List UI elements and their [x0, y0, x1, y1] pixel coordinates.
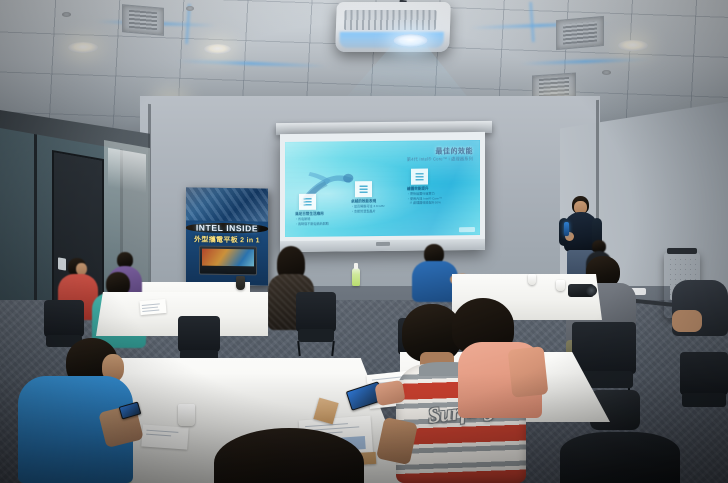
- partition-mullion: [34, 134, 37, 325]
- chair-back: [572, 322, 636, 374]
- camera-lens-icon: [586, 285, 597, 296]
- chair-right-2[interactable]: [680, 352, 728, 422]
- chair-seat: [298, 329, 335, 342]
- chair-center[interactable]: [296, 292, 336, 356]
- chair-back: [680, 352, 728, 395]
- banner-subheadline: 外型攜電平板 2 in 1: [186, 234, 268, 245]
- arm: [672, 310, 702, 332]
- conference-room-photo: 最佳的效能 第4代 Intel® Core™ i 處理器系列 滿足日常生活應用 …: [0, 0, 728, 483]
- projector: [335, 2, 451, 52]
- attendee-dark-foreground: [214, 428, 364, 483]
- slide-projection-haze: [285, 140, 480, 237]
- paper-cup: [236, 276, 245, 290]
- arm: [508, 346, 549, 398]
- paper-cup: [528, 274, 536, 285]
- attendee-blue-back: [412, 244, 458, 302]
- banner-device-image: [199, 246, 257, 276]
- projector-vent-grill: [344, 10, 437, 30]
- head: [214, 428, 364, 483]
- handout-paper: [141, 424, 188, 449]
- chair-leg: [331, 341, 335, 356]
- banner-photo: [186, 187, 268, 221]
- attendee-bottom-right: [560, 432, 680, 483]
- handout-paper: [139, 299, 166, 315]
- purifier-top-panel: [667, 248, 697, 254]
- water-bottle: [352, 268, 360, 286]
- handheld-microphone: [564, 222, 569, 236]
- intel-roll-up-banner: INTEL INSIDE 外型攜電平板 2 in 1: [186, 187, 268, 285]
- paper-cup: [178, 404, 195, 426]
- projector-underglow: [339, 32, 444, 48]
- attendee-salmon-top: [452, 298, 544, 418]
- attendee-right-edge: [672, 280, 728, 360]
- chair-back: [296, 292, 336, 332]
- chair-back: [178, 316, 220, 352]
- chair-seat: [682, 393, 726, 407]
- chair-leg: [298, 341, 302, 356]
- presentation-slide: 最佳的效能 第4代 Intel® Core™ i 處理器系列 滿足日常生活應用 …: [285, 140, 480, 237]
- banner-headline: INTEL INSIDE: [186, 222, 268, 233]
- paper-cup: [556, 280, 565, 291]
- projection-screen: 最佳的效能 第4代 Intel® Core™ i 處理器系列 滿足日常生活應用 …: [280, 132, 485, 252]
- chair-back: [44, 300, 84, 337]
